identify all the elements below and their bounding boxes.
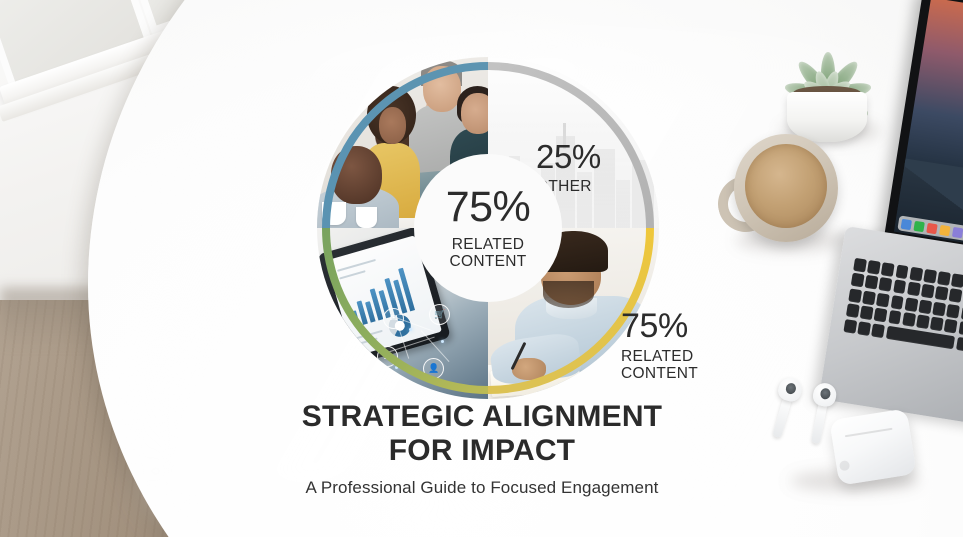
- related-callout-label: RELATED CONTENT: [621, 348, 698, 383]
- case-notch: [839, 460, 850, 471]
- keyboard-key[interactable]: [946, 304, 960, 319]
- keyboard-key[interactable]: [874, 308, 888, 323]
- center-percent: 75%: [446, 186, 531, 229]
- laptop-keyboard[interactable]: [840, 258, 963, 379]
- keyboard-key[interactable]: [890, 295, 904, 310]
- related-callout-line1: RELATED: [621, 348, 698, 365]
- airpod-mesh: [785, 382, 798, 395]
- laptop-wallpaper: [894, 0, 963, 252]
- donut-center-label: 75% RELATED CONTENT: [414, 154, 562, 302]
- keyboard-key[interactable]: [865, 275, 879, 290]
- dock-mail-icon[interactable]: [926, 222, 937, 233]
- keyboard-key[interactable]: [895, 264, 909, 279]
- keyboard-key[interactable]: [848, 288, 862, 303]
- related-callout-line2: CONTENT: [621, 365, 698, 382]
- infographic-scene: ✉ 🛒 ⚏ 👤: [0, 0, 963, 537]
- keyboard-key[interactable]: [937, 271, 951, 286]
- case-lid-seam: [845, 428, 893, 437]
- airpod-mesh: [819, 387, 831, 400]
- dock-messages-icon[interactable]: [913, 220, 924, 231]
- laptop: [846, 0, 963, 402]
- keyboard-key[interactable]: [843, 319, 857, 334]
- airpod-left: [766, 375, 795, 435]
- keyboard-key[interactable]: [909, 267, 923, 282]
- other-callout-percent: 25%: [536, 140, 601, 173]
- keyboard-key[interactable]: [923, 269, 937, 284]
- donut-chart: ✉ 🛒 ⚏ 👤: [317, 57, 659, 399]
- mug-body: [734, 134, 838, 242]
- keyboard-key[interactable]: [921, 284, 935, 299]
- keyboard-key[interactable]: [902, 312, 916, 327]
- keyboard-key[interactable]: [930, 317, 944, 332]
- keyboard-key[interactable]: [872, 323, 886, 338]
- keyboard-key[interactable]: [879, 277, 893, 292]
- coffee-surface: [745, 144, 827, 228]
- keyboard-key[interactable]: [916, 315, 930, 330]
- airpod-bud: [811, 381, 838, 408]
- airpods: [766, 372, 941, 512]
- keyboard-key[interactable]: [876, 293, 890, 308]
- keyboard-key[interactable]: [949, 289, 963, 304]
- page-title-line2: FOR IMPACT: [389, 434, 575, 467]
- keyboard-key[interactable]: [907, 282, 921, 297]
- dock-photos-icon[interactable]: [952, 226, 963, 237]
- keyboard-key[interactable]: [846, 303, 860, 318]
- airpod-right: [805, 381, 830, 441]
- keyboard-key[interactable]: [860, 306, 874, 321]
- airpod-stem: [811, 401, 828, 444]
- keyboard-key[interactable]: [951, 273, 963, 288]
- center-label-line2: CONTENT: [449, 253, 526, 270]
- keyboard-key[interactable]: [888, 310, 902, 325]
- dock-notes-icon[interactable]: [939, 224, 950, 235]
- keyboard-key[interactable]: [881, 262, 895, 277]
- keyboard-key[interactable]: [851, 273, 865, 288]
- related-callout: 75% RELATED CONTENT: [621, 309, 698, 383]
- keyboard-key[interactable]: [944, 319, 958, 334]
- related-callout-percent: 75%: [621, 309, 698, 343]
- airpods-case: [829, 408, 916, 485]
- keyboard-key[interactable]: [893, 280, 907, 295]
- heading-block: STRATEGIC ALIGNMENT FOR IMPACT A Profess…: [152, 400, 812, 498]
- dock-finder-icon[interactable]: [901, 218, 912, 229]
- keyboard-key[interactable]: [932, 302, 946, 317]
- page-title: STRATEGIC ALIGNMENT FOR IMPACT: [152, 400, 812, 468]
- keyboard-key[interactable]: [862, 290, 876, 305]
- airpod-stem: [772, 395, 792, 438]
- keyboard-key[interactable]: [956, 336, 963, 351]
- center-label-line1: RELATED: [449, 236, 526, 253]
- airpod-bud: [776, 375, 804, 403]
- page-title-line1: STRATEGIC ALIGNMENT: [302, 400, 662, 433]
- keyboard-key[interactable]: [935, 286, 949, 301]
- keyboard-key[interactable]: [857, 321, 871, 336]
- keyboard-key[interactable]: [867, 260, 881, 275]
- laptop-screen: [882, 0, 963, 271]
- page-subtitle: A Professional Guide to Focused Engageme…: [152, 478, 812, 498]
- coffee-mug: [718, 134, 844, 250]
- keyboard-key[interactable]: [904, 297, 918, 312]
- keyboard-key[interactable]: [918, 299, 932, 314]
- keyboard-key[interactable]: [853, 258, 867, 273]
- center-label: RELATED CONTENT: [449, 236, 526, 271]
- keyboard-key[interactable]: [958, 321, 963, 336]
